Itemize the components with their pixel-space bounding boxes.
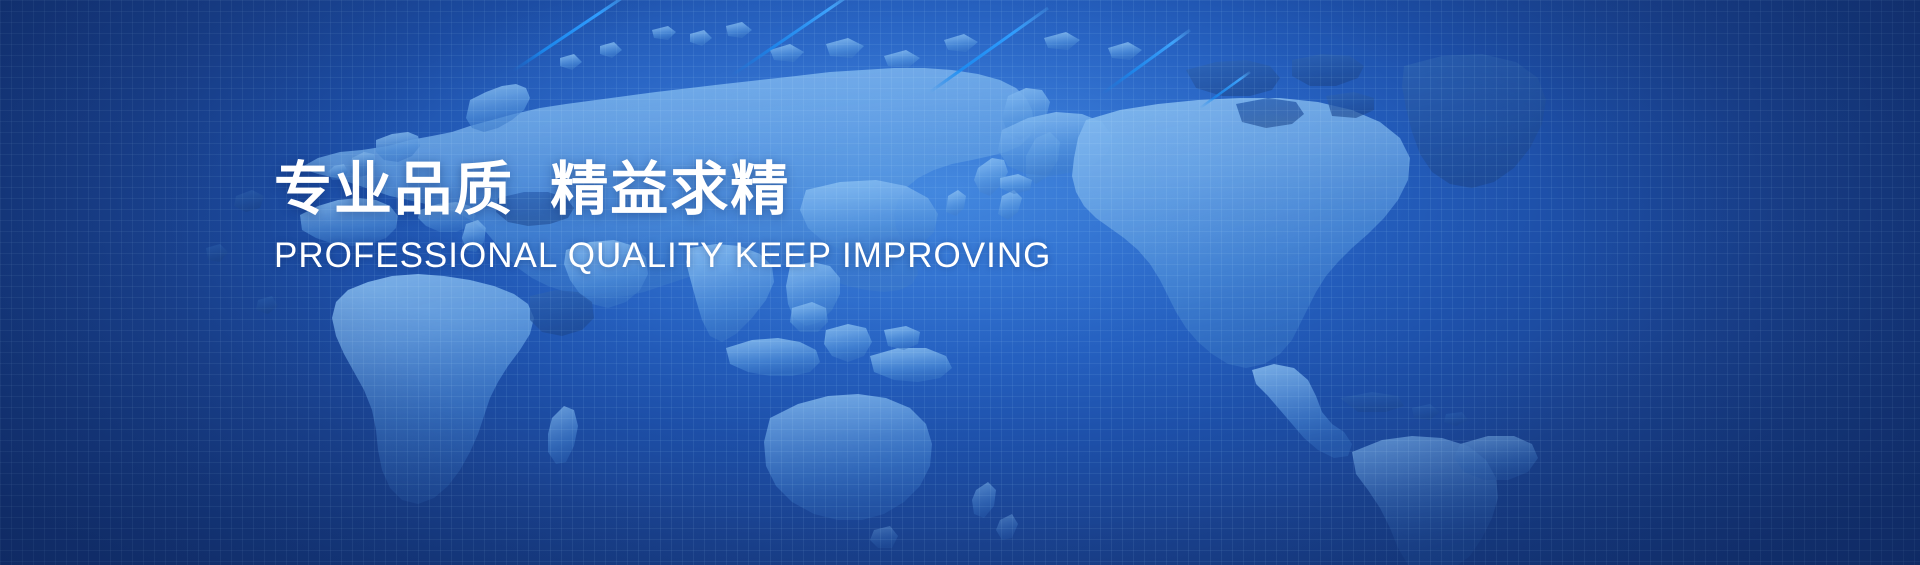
page-title: 专业品质 精益求精 — [274, 160, 1374, 219]
page-subtitle: PROFESSIONAL QUALITY KEEP IMPROVING — [274, 237, 1374, 276]
hero-banner: 专业品质 精益求精 PROFESSIONAL QUALITY KEEP IMPR… — [0, 0, 1920, 565]
banner-text-block: 专业品质 精益求精 PROFESSIONAL QUALITY KEEP IMPR… — [274, 160, 1374, 276]
vignette-overlay — [0, 0, 1920, 565]
